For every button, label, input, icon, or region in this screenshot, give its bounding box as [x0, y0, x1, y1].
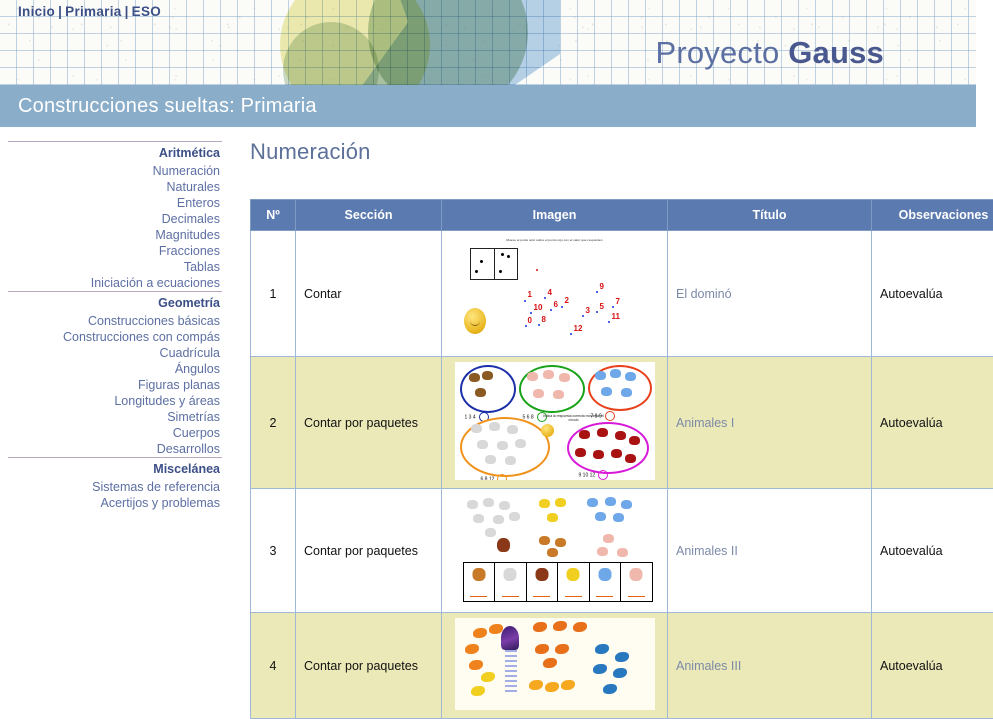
- nav-link-eso[interactable]: ESO: [132, 4, 161, 19]
- point-label-6: 6: [554, 300, 558, 309]
- cell-titulo[interactable]: Animales III: [668, 613, 872, 719]
- sidebar-item-tablas[interactable]: Tablas: [0, 259, 222, 275]
- column-header-seccion[interactable]: Sección: [296, 200, 442, 231]
- point-label-9: 9: [600, 282, 604, 291]
- nav-link-primaria[interactable]: Primaria: [65, 4, 121, 19]
- cell-titulo[interactable]: Animales I: [668, 357, 872, 489]
- sidebar-item-construcciones-con-compas[interactable]: Construcciones con compás: [0, 329, 222, 345]
- column-header-observaciones[interactable]: Observaciones: [872, 200, 993, 231]
- tally-cell-sheep[interactable]: [495, 563, 527, 601]
- sidebar-item-desarrollos[interactable]: Desarrollos: [0, 441, 222, 457]
- sidebar-item-construcciones-basicas[interactable]: Construcciones básicas: [0, 313, 222, 329]
- main-content: Numeración Nº Sección Imagen Título Obse…: [222, 127, 976, 719]
- point-label-2: 2: [565, 296, 569, 305]
- sidebar-heading-miscelanea: Miscelánea: [0, 461, 222, 477]
- sidebar-heading-geometria: Geometría: [0, 295, 222, 311]
- sidebar-item-figuras-planas[interactable]: Figuras planas: [0, 377, 222, 393]
- red-target-dot: [536, 269, 538, 271]
- tally-cell-stag[interactable]: [527, 563, 559, 601]
- cell-observaciones: Autoevalúa: [872, 489, 993, 613]
- cell-observaciones: Autoevalúa: [872, 357, 993, 489]
- nav-separator-1: |: [58, 4, 62, 19]
- point-label-3: 3: [586, 306, 590, 315]
- nav-separator-2: |: [125, 4, 129, 19]
- animal-tally-thumbnail[interactable]: [455, 494, 655, 604]
- answer-values-5: 9 10 12: [579, 472, 596, 478]
- nav-link-inicio[interactable]: Inicio: [18, 4, 55, 19]
- section-heading: Numeración: [250, 139, 970, 165]
- point-label-7: 7: [616, 297, 620, 306]
- answer-values-4: 6 8 12: [481, 476, 495, 480]
- cell-seccion: Contar por paquetes: [296, 613, 442, 719]
- table-row: 4 Contar por paquetes: [251, 613, 993, 719]
- tally-cell-pig[interactable]: [621, 563, 652, 601]
- answer-values-1: 1 3 4: [465, 414, 476, 420]
- thumb-caption: Mueve el punto azul sobre el punto rojo …: [456, 238, 654, 242]
- sidebar-divider-1: [8, 291, 222, 292]
- thumb-instruction: Indica la respuesta correcta moviendo el…: [539, 414, 609, 422]
- table-header-row: Nº Sección Imagen Título Observaciones: [251, 200, 993, 231]
- column-header-imagen[interactable]: Imagen: [442, 200, 668, 231]
- fish-counting-thumbnail[interactable]: [455, 618, 655, 710]
- sidebar-item-numeracion[interactable]: Numeración: [0, 163, 222, 179]
- cell-seccion: Contar por paquetes: [296, 489, 442, 613]
- animal-groups-thumbnail[interactable]: 1 3 4 5 6 8: [455, 362, 655, 480]
- sidebar-item-simetrias[interactable]: Simetrías: [0, 409, 222, 425]
- sidebar-item-iniciacion-a-ecuaciones[interactable]: Iniciación a ecuaciones: [0, 275, 222, 291]
- cell-titulo[interactable]: Animales II: [668, 489, 872, 613]
- construction-link[interactable]: El dominó: [676, 287, 732, 301]
- cell-imagen[interactable]: 1 3 4 5 6 8: [442, 357, 668, 489]
- cell-titulo[interactable]: El dominó: [668, 231, 872, 357]
- column-header-titulo[interactable]: Título: [668, 200, 872, 231]
- cell-observaciones: Autoevalúa: [872, 613, 993, 719]
- tally-cell-deer[interactable]: [464, 563, 496, 601]
- site-banner: Inicio|Primaria|ESO Proyecto Gauss: [0, 0, 976, 85]
- table-row: 2 Contar por paquetes 1 3 4: [251, 357, 993, 489]
- point-label-4: 4: [548, 288, 552, 297]
- cell-seccion: Contar: [296, 231, 442, 357]
- column-header-numero[interactable]: Nº: [251, 200, 296, 231]
- construction-link[interactable]: Animales II: [676, 544, 738, 558]
- cell-imagen[interactable]: [442, 613, 668, 719]
- point-label-11: 11: [612, 312, 620, 321]
- sidebar-item-magnitudes[interactable]: Magnitudes: [0, 227, 222, 243]
- sidebar-item-cuadricula[interactable]: Cuadrícula: [0, 345, 222, 361]
- sidebar-item-sistemas-de-referencia[interactable]: Sistemas de referencia: [0, 479, 222, 495]
- cell-observaciones: Autoevalúa: [872, 231, 993, 357]
- smiley-face-icon: [541, 424, 554, 437]
- sidebar-heading-aritmetica: Aritmética: [0, 145, 222, 161]
- sidebar-item-fracciones[interactable]: Fracciones: [0, 243, 222, 259]
- sidebar-item-acertijos-y-problemas[interactable]: Acertijos y problemas: [0, 495, 222, 511]
- sidebar-item-longitudes-y-areas[interactable]: Longitudes y áreas: [0, 393, 222, 409]
- cell-numero: 4: [251, 613, 296, 719]
- sidebar-item-cuerpos[interactable]: Cuerpos: [0, 425, 222, 441]
- sidebar-divider-2: [8, 457, 222, 458]
- cell-numero: 3: [251, 489, 296, 613]
- cell-imagen[interactable]: Mueve el punto azul sobre el punto rojo …: [442, 231, 668, 357]
- point-label-0: 0: [528, 316, 532, 325]
- sidebar-divider-0: [8, 141, 222, 142]
- squid-ink: [505, 650, 517, 694]
- cell-imagen[interactable]: [442, 489, 668, 613]
- tally-cell-bird[interactable]: [558, 563, 590, 601]
- page-title: Construcciones sueltas: Primaria: [0, 95, 317, 118]
- answer-options-4[interactable]: 6 8 12: [481, 474, 508, 480]
- table-row: 3 Contar por paquetes: [251, 489, 993, 613]
- sidebar-item-decimales[interactable]: Decimales: [0, 211, 222, 227]
- construction-link[interactable]: Animales III: [676, 659, 741, 673]
- point-label-5: 5: [600, 302, 604, 311]
- page-title-bar: Construcciones sueltas: Primaria: [0, 85, 976, 127]
- point-label-10: 10: [534, 303, 543, 312]
- answer-options-5[interactable]: 9 10 12: [579, 470, 609, 480]
- cell-numero: 1: [251, 231, 296, 357]
- brand-logo: Proyecto Gauss: [655, 35, 884, 71]
- domino-counting-thumbnail[interactable]: Mueve el punto azul sobre el punto rojo …: [456, 236, 654, 348]
- sidebar-item-naturales[interactable]: Naturales: [0, 179, 222, 195]
- tally-strip[interactable]: [463, 562, 653, 602]
- top-navigation: Inicio|Primaria|ESO: [18, 4, 161, 19]
- point-label-1: 1: [528, 290, 532, 299]
- domino-tile-icon: [470, 248, 518, 280]
- cell-numero: 2: [251, 357, 296, 489]
- tally-cell-bluebird[interactable]: [590, 563, 622, 601]
- table-row: 1 Contar Mueve el punto azul sobre el pu…: [251, 231, 993, 357]
- squid-icon: [501, 626, 519, 650]
- smiley-face-icon: [464, 308, 486, 334]
- constructions-table: Nº Sección Imagen Título Observaciones 1…: [250, 199, 993, 719]
- cell-seccion: Contar por paquetes: [296, 357, 442, 489]
- brand-word-proyecto: Proyecto: [655, 35, 779, 70]
- point-label-12: 12: [574, 324, 583, 333]
- sidebar-navigation: Aritmética Numeración Naturales Enteros …: [0, 127, 222, 511]
- page-body: Aritmética Numeración Naturales Enteros …: [0, 127, 976, 719]
- point-label-8: 8: [542, 315, 546, 324]
- brand-word-gauss: Gauss: [788, 35, 884, 70]
- sidebar-item-angulos[interactable]: Ángulos: [0, 361, 222, 377]
- sidebar-item-enteros[interactable]: Enteros: [0, 195, 222, 211]
- construction-link[interactable]: Animales I: [676, 416, 734, 430]
